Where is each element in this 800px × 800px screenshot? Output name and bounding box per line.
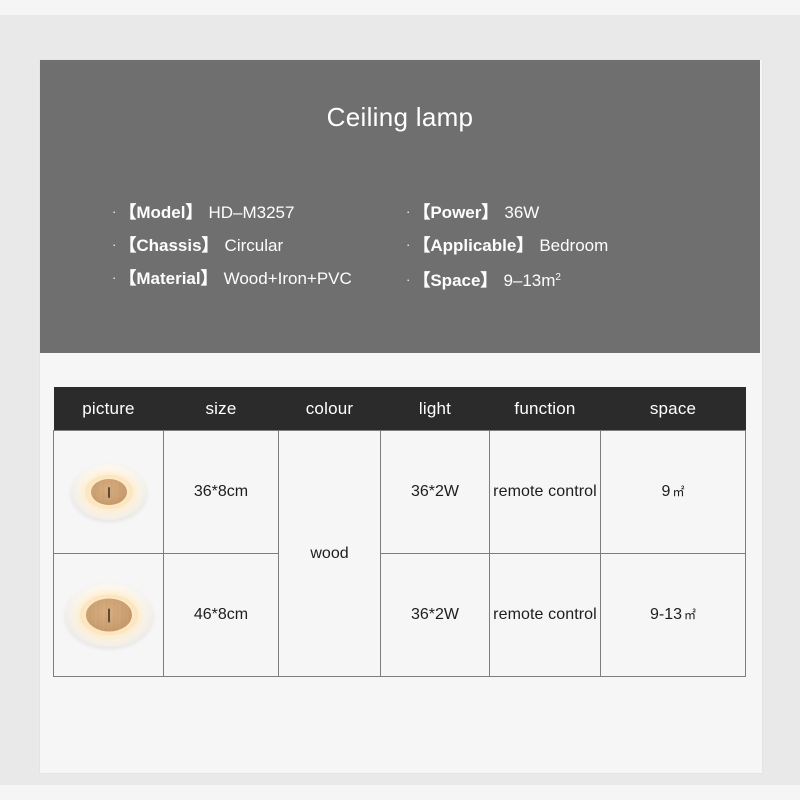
bullet-icon: · [406, 229, 410, 261]
lamp-pin-detail [108, 609, 110, 623]
lamp-pin-detail [108, 487, 110, 498]
cell-size: 46*8cm [164, 554, 279, 677]
spec-column-left: ·【Model】HD–M3257 ·【Chassis】Circular ·【Ma… [40, 196, 388, 297]
spec-item-model: ·【Model】HD–M3257 [112, 196, 388, 229]
bullet-icon: · [406, 264, 410, 296]
table-row: 46*8cm 36*2W remote control 9-13㎡ [54, 554, 746, 677]
spec-table: picture size colour light function space… [53, 387, 746, 677]
column-header-colour: colour [279, 387, 381, 431]
cell-space-unit: ㎡ [672, 485, 684, 499]
column-header-picture: picture [54, 387, 164, 431]
cell-function: remote control [490, 554, 601, 677]
ceiling-lamp-image-large [65, 583, 153, 647]
cell-light: 36*2W [381, 554, 490, 677]
spec-column-right: ·【Power】36W ·【Applicable】Bedroom ·【Space… [388, 196, 760, 297]
table-row: 36*8cm wood 36*2W remote control 9㎡ [54, 431, 746, 554]
column-header-space: space [601, 387, 746, 431]
spec-item-applicable: ·【Applicable】Bedroom [406, 229, 760, 262]
spec-list: ·【Model】HD–M3257 ·【Chassis】Circular ·【Ma… [40, 196, 760, 297]
table-header-row: picture size colour light function space [54, 387, 746, 431]
spec-item-material: ·【Material】Wood+Iron+PVC [112, 262, 388, 295]
spec-key: 【Applicable】 [413, 236, 533, 255]
spec-item-power: ·【Power】36W [406, 196, 760, 229]
cell-space: 9㎡ [601, 431, 746, 554]
bullet-icon: · [112, 196, 116, 228]
bullet-icon: · [406, 196, 410, 228]
spec-banner: Ceiling lamp ·【Model】HD–M3257 ·【Chassis】… [40, 60, 760, 353]
spec-table-wrapper: picture size colour light function space… [53, 387, 745, 677]
spec-item-chassis: ·【Chassis】Circular [112, 229, 388, 262]
spec-key: 【Space】 [413, 271, 497, 290]
spec-value: Wood+Iron+PVC [224, 269, 352, 288]
cell-space-unit: ㎡ [684, 608, 696, 622]
cell-space-value: 9-13 [650, 606, 682, 623]
spec-value-superscript: 2 [555, 272, 561, 283]
spec-key: 【Power】 [413, 203, 498, 222]
cell-size: 36*8cm [164, 431, 279, 554]
spec-value: 9–13m [503, 271, 555, 290]
cell-space: 9-13㎡ [601, 554, 746, 677]
spec-value: 36W [504, 203, 539, 222]
spec-value: Bedroom [539, 236, 608, 255]
ceiling-lamp-image-small [71, 464, 147, 520]
spec-key: 【Chassis】 [119, 236, 218, 255]
product-image-cell [54, 431, 164, 554]
page-title: Ceiling lamp [40, 102, 760, 133]
spec-key: 【Material】 [119, 269, 217, 288]
cell-space-value: 9 [662, 483, 671, 500]
column-header-size: size [164, 387, 279, 431]
column-header-function: function [490, 387, 601, 431]
cell-colour: wood [279, 431, 381, 677]
spec-value: HD–M3257 [208, 203, 294, 222]
bullet-icon: · [112, 262, 116, 294]
spec-item-space: ·【Space】9–13m2 [406, 262, 760, 297]
bullet-icon: · [112, 229, 116, 261]
cell-light: 36*2W [381, 431, 490, 554]
column-header-light: light [381, 387, 490, 431]
spec-key: 【Model】 [119, 203, 202, 222]
spec-value: Circular [225, 236, 284, 255]
product-image-cell [54, 554, 164, 677]
cell-function: remote control [490, 431, 601, 554]
